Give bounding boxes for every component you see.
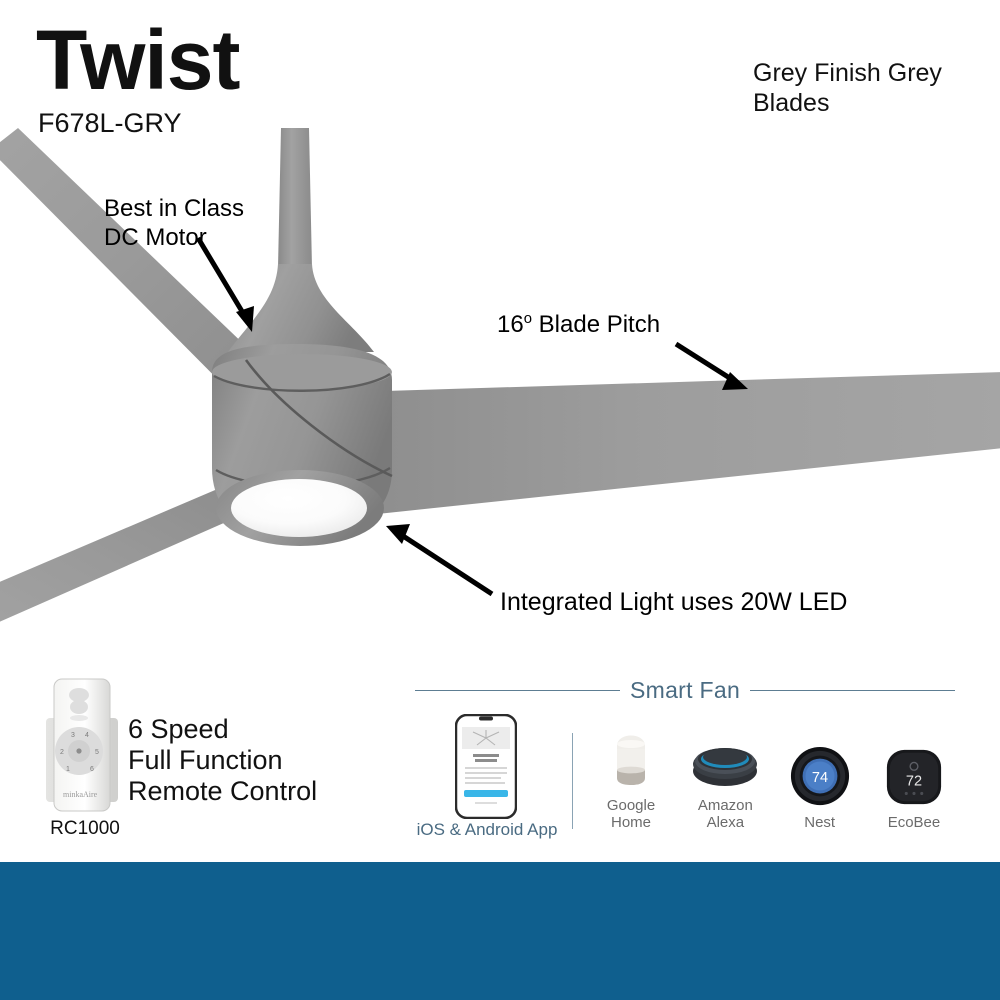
remote-model-label: RC1000 (47, 818, 123, 840)
fan-twist-seam (246, 360, 392, 476)
bottom-banner: INDOOR RATED minkaAire® (0, 862, 1000, 1000)
page-title: Twist (36, 18, 239, 102)
device-google-home: Google Home (585, 712, 677, 831)
fan-blade-right (352, 372, 1000, 516)
fan-seam-upper (214, 374, 390, 391)
remote-dial-number-2: 2 (60, 749, 64, 756)
remote-control-image: 3 4 2 5 1 6 minkaAire (44, 676, 122, 816)
arrow-dc-motor (198, 238, 254, 332)
ecobee-temperature: 72 (906, 774, 922, 790)
device-ecobee: 72 EcoBee (868, 729, 960, 831)
smartphone-app-image (455, 714, 517, 819)
smart-device-list: Google Home Amazon Alexa (585, 716, 960, 831)
phone-footer-line (475, 802, 497, 804)
device-name: Nest (774, 814, 866, 831)
device-name: EcoBee (868, 814, 960, 831)
model-number: F678L-GRY (38, 108, 182, 138)
fan-blade-lower-left (0, 470, 276, 626)
blade-pitch-text: Blade Pitch (532, 311, 660, 338)
product-infographic: Twist F678L-GRY Grey Finish Grey Blades … (0, 0, 1000, 1000)
degree-symbol: o (524, 311, 532, 327)
callout-blade-pitch: 16o Blade Pitch (497, 310, 660, 339)
smart-fan-title: Smart Fan (630, 677, 740, 704)
remote-dial-number-5: 5 (95, 749, 99, 756)
arrow-blade-pitch (676, 344, 748, 390)
section-divider (572, 733, 573, 829)
nest-thermostat-icon: 74 (774, 729, 866, 807)
fan-seam-lower (216, 468, 390, 486)
remote-description: 6 Speed Full Function Remote Control (128, 714, 317, 807)
device-name: Google Home (585, 797, 677, 831)
fan-light-ring (216, 470, 384, 546)
app-label: iOS & Android App (408, 820, 566, 840)
remote-dial-number-3: 3 (71, 732, 75, 739)
ceiling-fan-illustration (0, 0, 1000, 1000)
smart-fan-rule-left (415, 690, 620, 691)
remote-dial-number-4: 4 (85, 732, 89, 739)
remote-dial-number-1: 1 (66, 766, 70, 773)
nest-temperature: 74 (812, 770, 828, 786)
remote-logo-top (70, 715, 88, 721)
fan-blade-upper-left (0, 128, 300, 430)
device-name: Amazon Alexa (679, 797, 771, 831)
smart-fan-rule-right (750, 690, 955, 691)
device-amazon-alexa: Amazon Alexa (679, 712, 771, 831)
finish-description: Grey Finish Grey Blades (753, 58, 1000, 118)
fan-body-top (212, 354, 392, 390)
phone-cta-button (464, 790, 508, 797)
fan-motor-housing (228, 264, 374, 352)
callout-dc-motor: Best in Class DC Motor (104, 194, 244, 252)
amazon-alexa-icon (679, 712, 771, 790)
blade-pitch-value: 16 (497, 311, 524, 338)
phone-subtitle-line (475, 759, 497, 762)
remote-dial-number-6: 6 (90, 766, 94, 773)
phone-notch (479, 717, 493, 721)
ecobee-thermostat-icon: 72 (868, 729, 960, 807)
arrow-integrated-light (386, 524, 492, 594)
remote-dial-center (76, 748, 81, 753)
callout-integrated-light: Integrated Light uses 20W LED (500, 588, 847, 617)
remote-brand-logo: minkaAire (63, 790, 98, 799)
phone-title-line (473, 754, 499, 757)
fan-downrod (278, 128, 312, 268)
remote-button-down (70, 700, 88, 714)
remote-button-up (69, 688, 89, 702)
google-home-icon (585, 712, 677, 790)
fan-motor-body (212, 344, 392, 540)
smart-fan-header: Smart Fan (415, 676, 955, 704)
fan-light-lens (231, 479, 367, 537)
device-nest: 74 Nest (774, 729, 866, 831)
